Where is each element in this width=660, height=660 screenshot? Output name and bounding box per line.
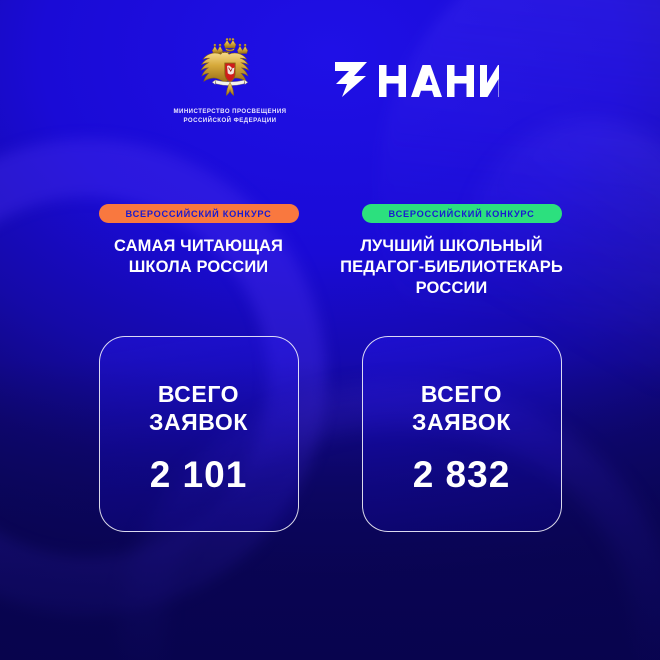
russian-federation-coat-of-arms-icon: [193, 38, 267, 100]
competition-headings: ВСЕРОССИЙСКИЙ КОНКУРС САМАЯ ЧИТАЮЩАЯ ШКО…: [0, 204, 660, 298]
ministry-caption: МИНИСТЕРСТВО ПРОСВЕЩЕНИЯ РОССИЙСКОЙ ФЕДЕ…: [173, 107, 286, 126]
competition-badge-0: ВСЕРОССИЙСКИЙ КОНКУРС: [99, 204, 299, 223]
poster-content: МИНИСТЕРСТВО ПРОСВЕЩЕНИЯ РОССИЙСКОЙ ФЕДЕ…: [0, 0, 660, 660]
header: МИНИСТЕРСТВО ПРОСВЕЩЕНИЯ РОССИЙСКОЙ ФЕДЕ…: [0, 38, 660, 126]
stat-card-value-0: 2 101: [150, 456, 248, 493]
stat-card-label-0: ВСЕГО ЗАЯВОК: [149, 381, 248, 437]
competition-column-1: ВСЕРОССИЙСКИЙ КОНКУРС ЛУЧШИЙ ШКОЛЬНЫЙ ПЕ…: [362, 204, 562, 298]
znanie-wordmark-icon: [333, 56, 499, 102]
znanie-brand-logo: [333, 56, 499, 102]
competition-badge-1: ВСЕРОССИЙСКИЙ КОНКУРС: [362, 204, 562, 223]
competition-column-0: ВСЕРОССИЙСКИЙ КОНКУРС САМАЯ ЧИТАЮЩАЯ ШКО…: [99, 204, 299, 298]
competition-title-0: САМАЯ ЧИТАЮЩАЯ ШКОЛА РОССИИ: [114, 236, 283, 278]
competition-title-1: ЛУЧШИЙ ШКОЛЬНЫЙ ПЕДАГОГ-БИБЛИОТЕКАРЬ РОС…: [332, 236, 572, 298]
stat-card-value-1: 2 832: [413, 456, 511, 493]
stat-card-1: ВСЕГО ЗАЯВОК 2 832: [362, 336, 562, 532]
stat-card-label-1: ВСЕГО ЗАЯВОК: [412, 381, 511, 437]
poster: МИНИСТЕРСТВО ПРОСВЕЩЕНИЯ РОССИЙСКОЙ ФЕДЕ…: [0, 0, 660, 660]
stat-cards: ВСЕГО ЗАЯВОК 2 101 ВСЕГО ЗАЯВОК 2 832: [0, 336, 660, 532]
ministry-logo-block: МИНИСТЕРСТВО ПРОСВЕЩЕНИЯ РОССИЙСКОЙ ФЕДЕ…: [161, 38, 299, 126]
stat-card-0: ВСЕГО ЗАЯВОК 2 101: [99, 336, 299, 532]
